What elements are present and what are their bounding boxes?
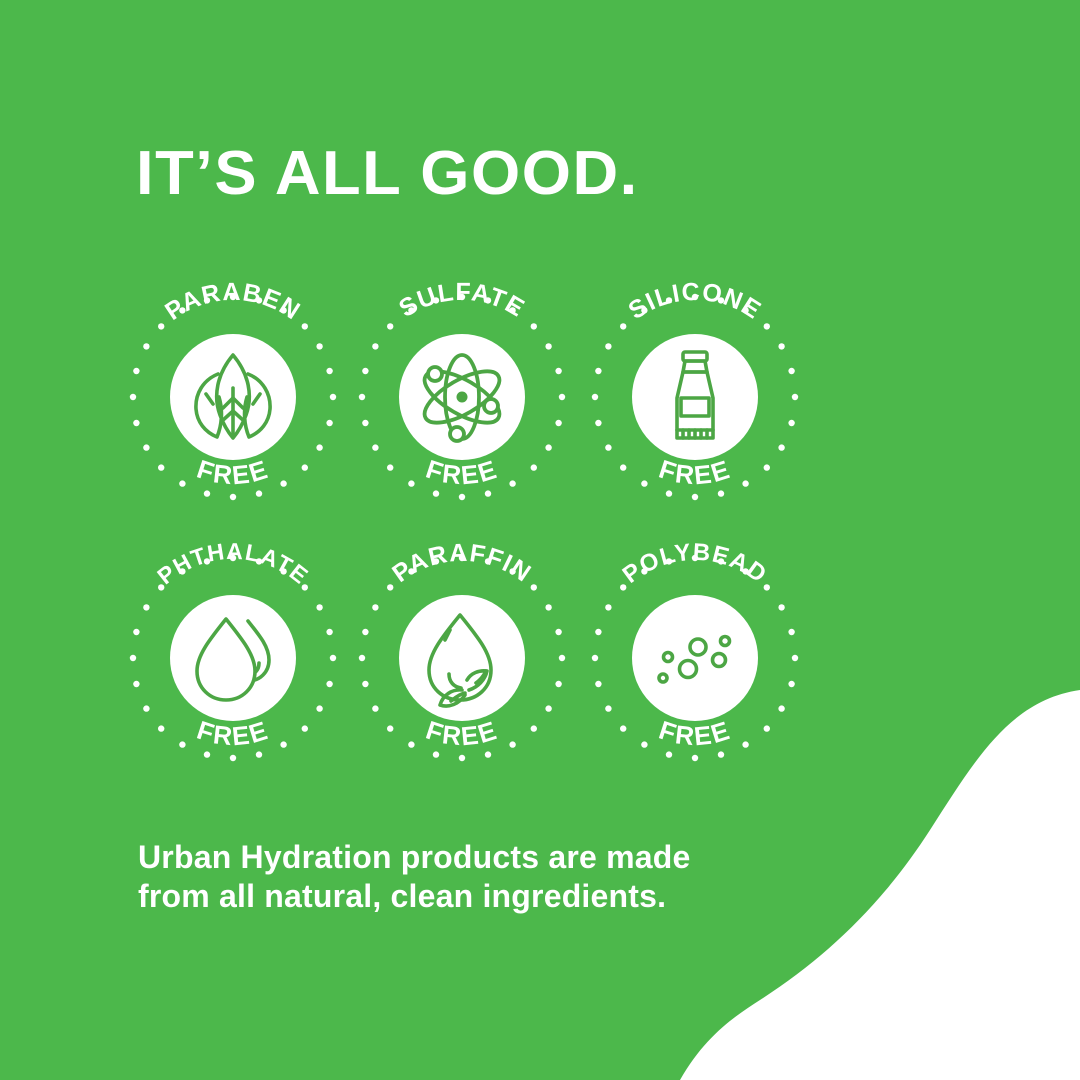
badge-top-label: SULFATE xyxy=(394,282,530,323)
badge-paraben-free[interactable]: PARABEN FREE xyxy=(118,282,348,512)
footer-line-1: Urban Hydration products are made xyxy=(138,838,691,877)
badge-disc xyxy=(632,595,758,721)
footer-line-2: from all natural, clean ingredients. xyxy=(138,877,691,916)
promo-graphic: IT’S ALL GOOD. xyxy=(0,0,1080,1080)
badge-top-label: SILICONE xyxy=(624,282,767,325)
badge-top-label: PHTHALATE xyxy=(152,543,313,589)
page-title: IT’S ALL GOOD. xyxy=(136,143,639,205)
badge-sulfate-free[interactable]: SULFATE FREE xyxy=(347,282,577,512)
badge-phthalate-free[interactable]: PHTHALATE FREE xyxy=(118,543,348,773)
badge-paraffin-free[interactable]: PARAFFIN FREE xyxy=(347,543,577,773)
badge-silicone-free[interactable]: SILICONE FREE xyxy=(580,282,810,512)
badge-top-label: PARABEN xyxy=(160,282,305,326)
badge-polybead-free[interactable]: POLYBEAD FREE xyxy=(580,543,810,773)
badge-top-label: POLYBEAD xyxy=(618,543,772,589)
footer-description: Urban Hydration products are made from a… xyxy=(138,838,691,916)
badge-top-label: PARAFFIN xyxy=(387,543,536,588)
badge-disc xyxy=(399,595,525,721)
